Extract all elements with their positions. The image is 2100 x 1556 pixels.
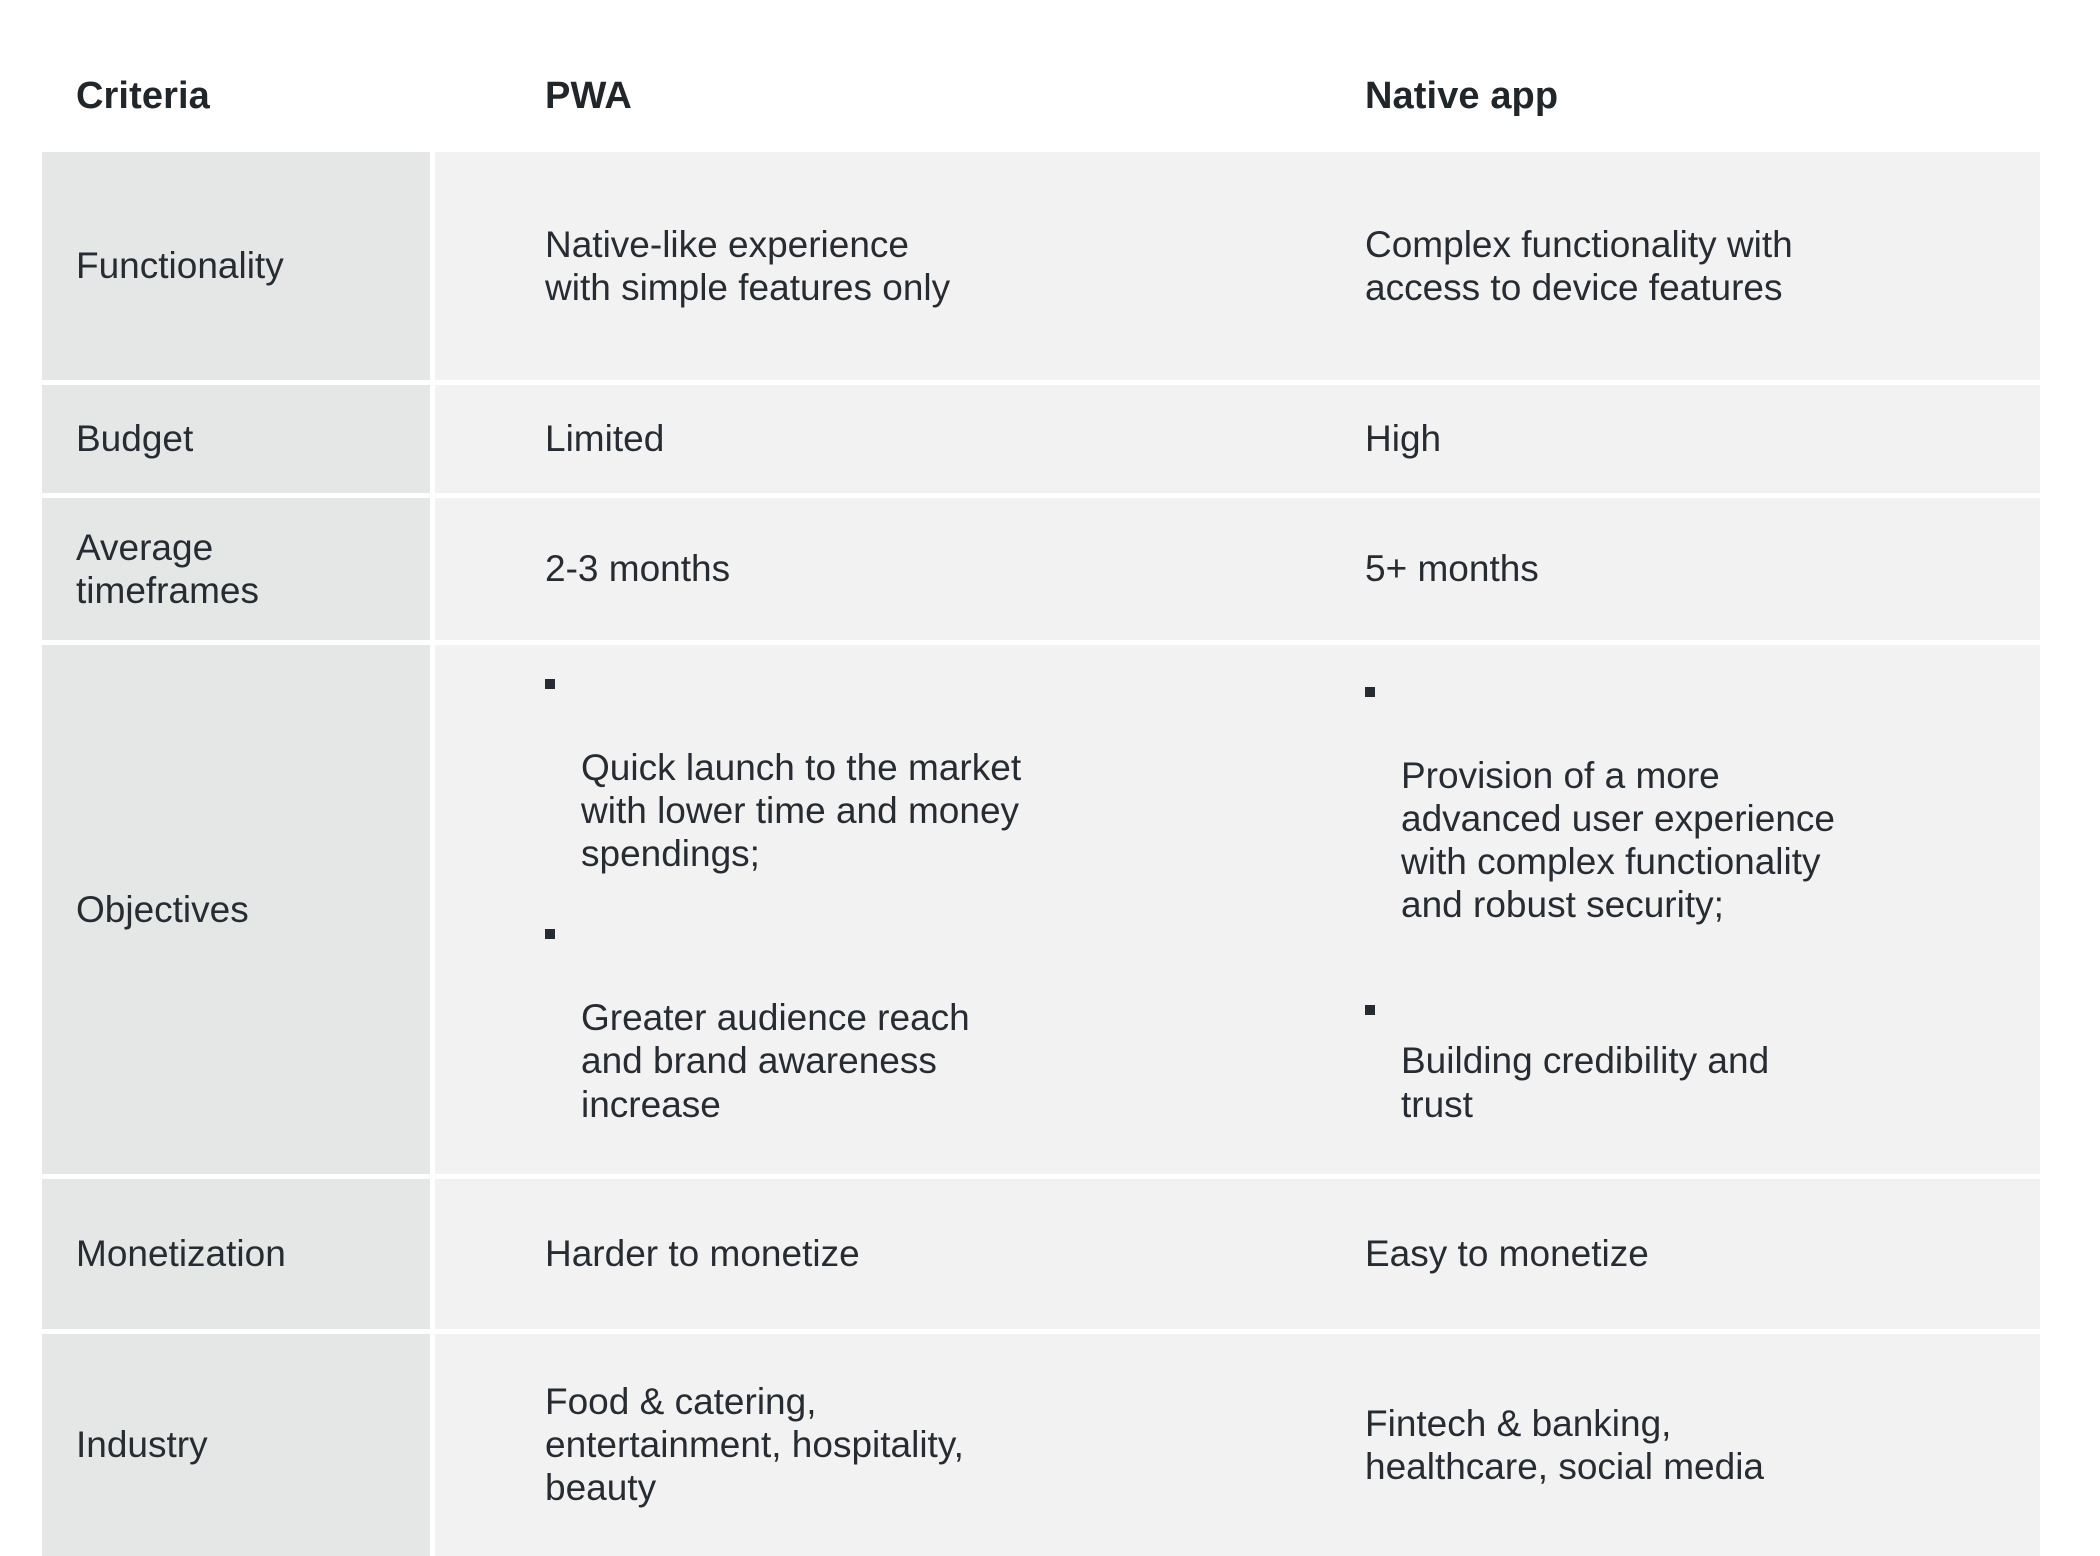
cell-criteria: Industry [42,1334,435,1556]
criteria-label: Average timeframes [76,526,410,613]
pwa-value: Food & catering, entertainment, hospital… [545,1380,1337,1510]
table-row: Monetization Harder to monetize Easy to … [42,1179,2040,1334]
pwa-value: 2-3 months [545,547,1337,590]
pwa-objectives-list: Quick launch to the market with lower ti… [545,659,1337,1126]
criteria-label: Functionality [76,244,410,287]
cell-pwa: 2-3 months [435,498,1365,645]
cell-native-app: 5+ months [1365,498,2040,645]
native-app-objectives-list: Provision of a more advanced user experi… [1365,667,2006,1126]
pwa-vs-native-comparison-table: Criteria PWA Native app Functionality Na… [42,40,2040,1556]
list-item: Quick launch to the market with lower ti… [545,659,1337,875]
pwa-value: Harder to monetize [545,1232,1337,1275]
cell-pwa: Native-like experience with simple featu… [435,152,1365,385]
table-row: Industry Food & catering, entertainment,… [42,1334,2040,1556]
criteria-label: Budget [76,417,410,460]
cell-criteria: Objectives [42,645,435,1179]
square-bullet-icon [545,929,555,939]
list-item: Building credibility and trust [1365,953,2006,1126]
native-app-value: Easy to monetize [1365,1232,2006,1275]
list-item-text: Greater audience reach and brand awarene… [581,997,970,1125]
table-row: Average timeframes 2-3 months 5+ months [42,498,2040,645]
cell-native-app: Provision of a more advanced user experi… [1365,645,2040,1179]
cell-pwa: Food & catering, entertainment, hospital… [435,1334,1365,1556]
list-item-text: Quick launch to the market with lower ti… [581,747,1021,875]
comparison-table-page: Criteria PWA Native app Functionality Na… [0,0,2100,1350]
cell-criteria: Monetization [42,1179,435,1334]
table-row: Budget Limited High [42,385,2040,498]
square-bullet-icon [545,679,555,689]
native-app-value: Complex functionality with access to dev… [1365,223,2006,310]
cell-pwa: Harder to monetize [435,1179,1365,1334]
criteria-label: Objectives [76,888,410,931]
square-bullet-icon [1365,687,1375,697]
criteria-label: Monetization [76,1232,410,1275]
native-app-value: Fintech & banking, healthcare, social me… [1365,1402,2006,1489]
cell-native-app: Complex functionality with access to dev… [1365,152,2040,385]
square-bullet-icon [1365,1005,1375,1015]
cell-native-app: Fintech & banking, healthcare, social me… [1365,1334,2040,1556]
cell-pwa: Limited [435,385,1365,498]
table-row: Objectives Quick launch to the market wi… [42,645,2040,1179]
pwa-value: Limited [545,417,1337,460]
cell-pwa: Quick launch to the market with lower ti… [435,645,1365,1179]
list-item-text: Building credibility and trust [1401,1040,1769,1124]
cell-native-app: Easy to monetize [1365,1179,2040,1334]
pwa-value: Native-like experience with simple featu… [545,223,1337,310]
criteria-label: Industry [76,1423,410,1466]
list-item: Greater audience reach and brand awarene… [545,909,1337,1125]
list-item-text: Provision of a more advanced user experi… [1401,755,1835,926]
cell-native-app: High [1365,385,2040,498]
table-row: Functionality Native-like experience wit… [42,152,2040,385]
table-header: Criteria PWA Native app [42,40,2040,152]
cell-criteria: Average timeframes [42,498,435,645]
column-header-pwa: PWA [435,40,1365,152]
native-app-value: High [1365,417,2006,460]
native-app-value: 5+ months [1365,547,2006,590]
list-item: Provision of a more advanced user experi… [1365,667,2006,927]
column-header-native-app: Native app [1365,40,2040,152]
column-header-criteria: Criteria [42,40,435,152]
table-header-row: Criteria PWA Native app [42,40,2040,152]
table-body: Functionality Native-like experience wit… [42,152,2040,1556]
cell-criteria: Functionality [42,152,435,385]
cell-criteria: Budget [42,385,435,498]
